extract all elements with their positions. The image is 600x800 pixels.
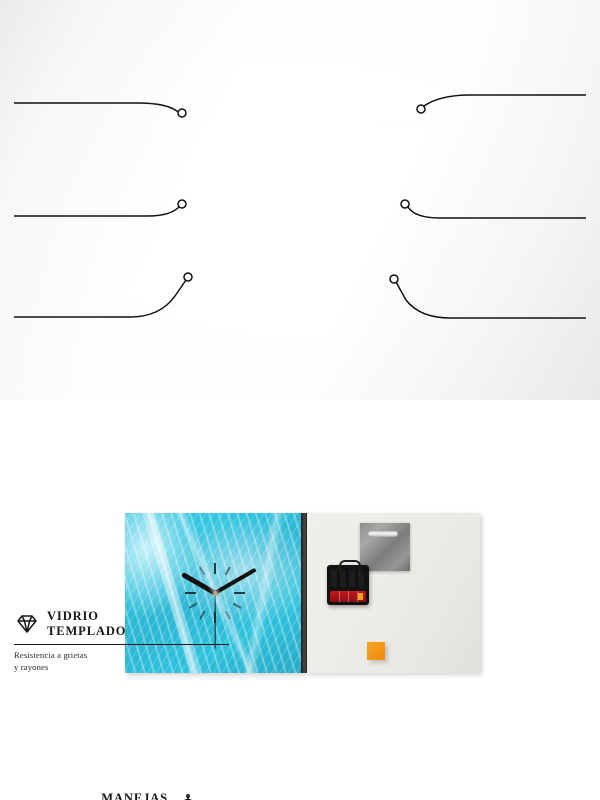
clock-center-pin xyxy=(213,591,218,596)
connector-dot-espaciador xyxy=(390,275,398,283)
feature-manejas-metal: MANEJAS METAL Permiten una fácil instala… xyxy=(0,791,201,800)
hour-mark xyxy=(189,577,242,609)
hour-mark xyxy=(189,577,242,609)
connector-dot-bordes xyxy=(184,273,192,281)
mechanism-grid xyxy=(331,570,365,587)
connector-dot-manejas xyxy=(417,105,425,113)
foam-spacer xyxy=(367,642,385,660)
connector-dot-mecanismo xyxy=(401,200,409,208)
picture-frame-hook-icon xyxy=(175,793,201,800)
connector-dot-impresion xyxy=(178,200,186,208)
clock-back-panel xyxy=(307,513,480,673)
feature-vidrio-templado: VIDRIO TEMPLADO Resistencia a grietas y … xyxy=(14,609,229,674)
battery-strip xyxy=(330,591,366,602)
clock-mechanism-box xyxy=(327,565,369,605)
connector-espaciador xyxy=(396,282,586,318)
hour-mark xyxy=(189,577,242,609)
hour-hand xyxy=(181,572,216,595)
mechanism-handle xyxy=(339,560,361,570)
connector-dot-vidrio xyxy=(178,109,186,117)
diamond-icon xyxy=(14,611,40,637)
metal-hanger-plate xyxy=(360,523,410,571)
feature-title: MANEJAS METAL xyxy=(101,791,168,800)
feature-description: Resistencia a grietas y rayones xyxy=(14,650,229,674)
hanger-slot xyxy=(368,531,398,537)
feature-title: VIDRIO TEMPLADO xyxy=(47,609,126,640)
connector-vidrio-templado xyxy=(14,103,178,112)
divider xyxy=(14,644,229,645)
hour-mark xyxy=(189,577,242,609)
hour-mark xyxy=(185,592,245,594)
minute-hand xyxy=(214,568,257,595)
connector-lines xyxy=(0,0,600,400)
connector-impresion xyxy=(14,207,179,216)
hour-mark xyxy=(185,592,245,594)
infographic-canvas: VIDRIO TEMPLADO Resistencia a grietas y … xyxy=(0,0,600,400)
connector-bordes xyxy=(14,280,186,317)
connector-manejas xyxy=(424,95,586,106)
connector-mecanismo xyxy=(408,207,586,218)
